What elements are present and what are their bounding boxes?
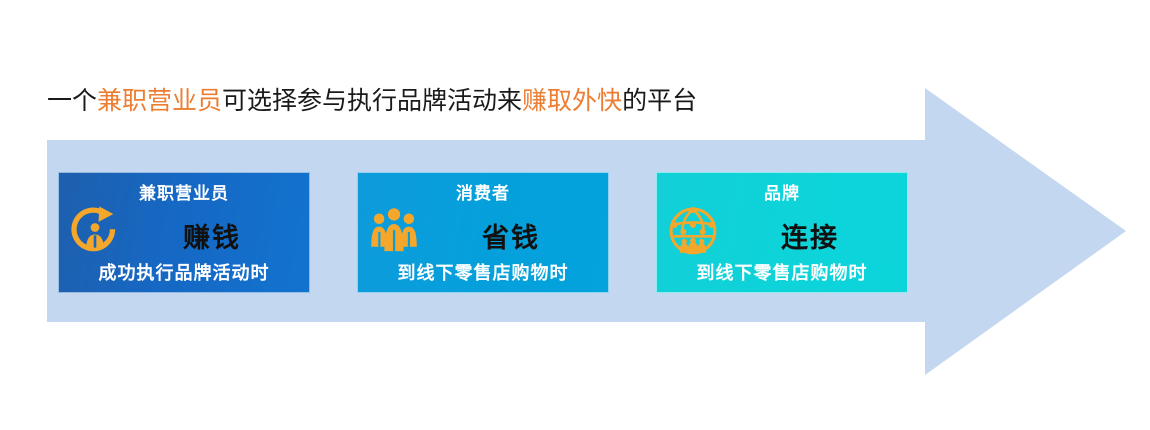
headline-seg-0: 一个: [47, 88, 97, 115]
card-title: 品牌: [657, 179, 907, 204]
headline-seg-3-highlight: 赚取外快: [522, 88, 622, 115]
card-brand[interactable]: 品牌 连接: [656, 172, 908, 293]
card-main-text: 赚钱: [115, 216, 309, 255]
card-caption: 到线下零售店购物时: [358, 259, 608, 285]
card-part-time-clerk[interactable]: 兼职营业员 赚钱 成功执行品牌活动时: [58, 172, 310, 293]
card-main-text: 连接: [713, 216, 907, 255]
card-main-text: 省钱: [414, 216, 608, 255]
page-title: 一个兼职营业员可选择参与执行品牌活动来赚取外快的平台: [47, 86, 697, 118]
card-caption: 成功执行品牌活动时: [59, 259, 309, 285]
slide-canvas: 一个兼职营业员可选择参与执行品牌活动来赚取外快的平台 兼职营业员 赚钱 成功执行…: [0, 0, 1150, 430]
headline-seg-2: 可选择参与执行品牌活动来: [222, 88, 522, 115]
card-title: 消费者: [358, 179, 608, 204]
card-caption: 到线下零售店购物时: [657, 259, 907, 285]
headline-seg-1-highlight: 兼职营业员: [97, 88, 222, 115]
card-consumer[interactable]: 消费者 省钱 到线下零售店购物时: [357, 172, 609, 293]
card-title: 兼职营业员: [59, 179, 309, 204]
headline-seg-4: 的平台: [622, 88, 697, 115]
